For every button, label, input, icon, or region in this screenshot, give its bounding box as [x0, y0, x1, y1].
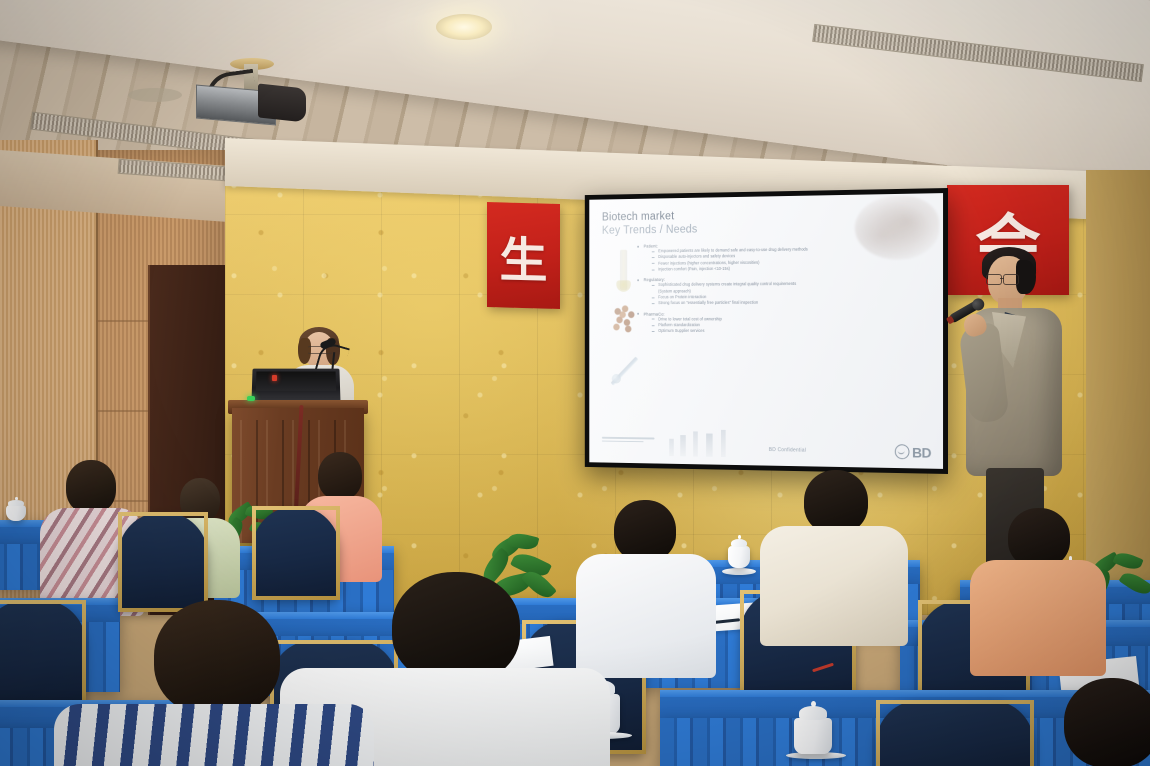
slide-footer: BD Confidential BD	[589, 426, 943, 465]
audience-head	[180, 478, 220, 522]
banquet-chair[interactable]	[118, 512, 208, 612]
audience-head	[1008, 508, 1070, 568]
slide-group-pharmaco: PharmaCo: Drive to lower total cost of o…	[602, 311, 929, 335]
slide-group-regulatory: Regulatory: Sophisticated drug delivery …	[602, 276, 929, 307]
audience-head	[66, 460, 116, 514]
bd-logo-text: BD	[912, 445, 931, 459]
ceiling-projector	[196, 80, 304, 122]
audience-head	[318, 452, 362, 500]
presenter-laptop[interactable]	[251, 369, 340, 404]
banquet-chair[interactable]	[876, 700, 1034, 766]
audience-member-foreground	[84, 600, 364, 766]
slide-bullet: Injection comfort (Pain, injection <10-1…	[658, 264, 929, 273]
confidential-label: BD Confidential	[769, 447, 806, 453]
slide-group-patient: Patient: Empowered patients are likely t…	[602, 240, 929, 273]
slide-bullet: Strong focus on "essentially free partic…	[658, 300, 929, 307]
bd-logo-mark-icon	[894, 444, 909, 459]
footer-text-lines	[602, 437, 655, 445]
podium-indicator-light	[247, 396, 255, 401]
protein-molecule-icon	[604, 300, 644, 342]
pipette-icon	[604, 351, 644, 393]
speaker-glasses-right-icon	[1003, 274, 1019, 285]
projection-screen: Biotech market Key Trends / Needs Patien…	[585, 188, 948, 474]
red-banner-left: 生	[487, 202, 560, 309]
bd-logo: BD	[894, 444, 931, 460]
syringe-icon	[604, 250, 644, 292]
audience-head	[1064, 678, 1150, 766]
ceiling-speaker-grille	[128, 88, 182, 102]
audience-body	[54, 704, 374, 766]
audience-member	[762, 470, 902, 640]
audience-head	[614, 500, 676, 562]
audience-body	[576, 554, 716, 678]
audience-body	[970, 560, 1106, 676]
conference-room-photo: 生 会 Biotech market Key Trends / Needs	[0, 0, 1150, 766]
audience-member	[580, 500, 708, 670]
speaker-hair-side	[1016, 260, 1036, 294]
speaker-glasses-bridge	[1000, 278, 1004, 279]
projector-lens-hood	[258, 83, 306, 122]
lidded-teacup	[728, 546, 750, 568]
audience-member	[972, 508, 1102, 668]
footer-vials-image	[666, 429, 738, 457]
speaker-glasses-left-icon	[986, 274, 1002, 285]
projection-screen-surface: Biotech market Key Trends / Needs Patien…	[589, 193, 943, 469]
slide-icon-column	[604, 250, 644, 402]
lidded-teacup	[6, 505, 26, 521]
lidded-teacup	[794, 718, 832, 754]
audience-member-foreground	[1040, 678, 1150, 766]
presentation-slide: Biotech market Key Trends / Needs Patien…	[589, 193, 943, 469]
saucer	[722, 568, 756, 575]
audience-body	[760, 526, 908, 646]
slide-body: Patient: Empowered patients are likely t…	[602, 240, 929, 335]
audience-head	[154, 600, 280, 716]
laptop-indicator-light	[272, 375, 277, 381]
ceiling-downlight	[436, 14, 492, 40]
slide-bullet: Optimum Supplier services	[658, 328, 929, 334]
audience-head	[804, 470, 868, 534]
